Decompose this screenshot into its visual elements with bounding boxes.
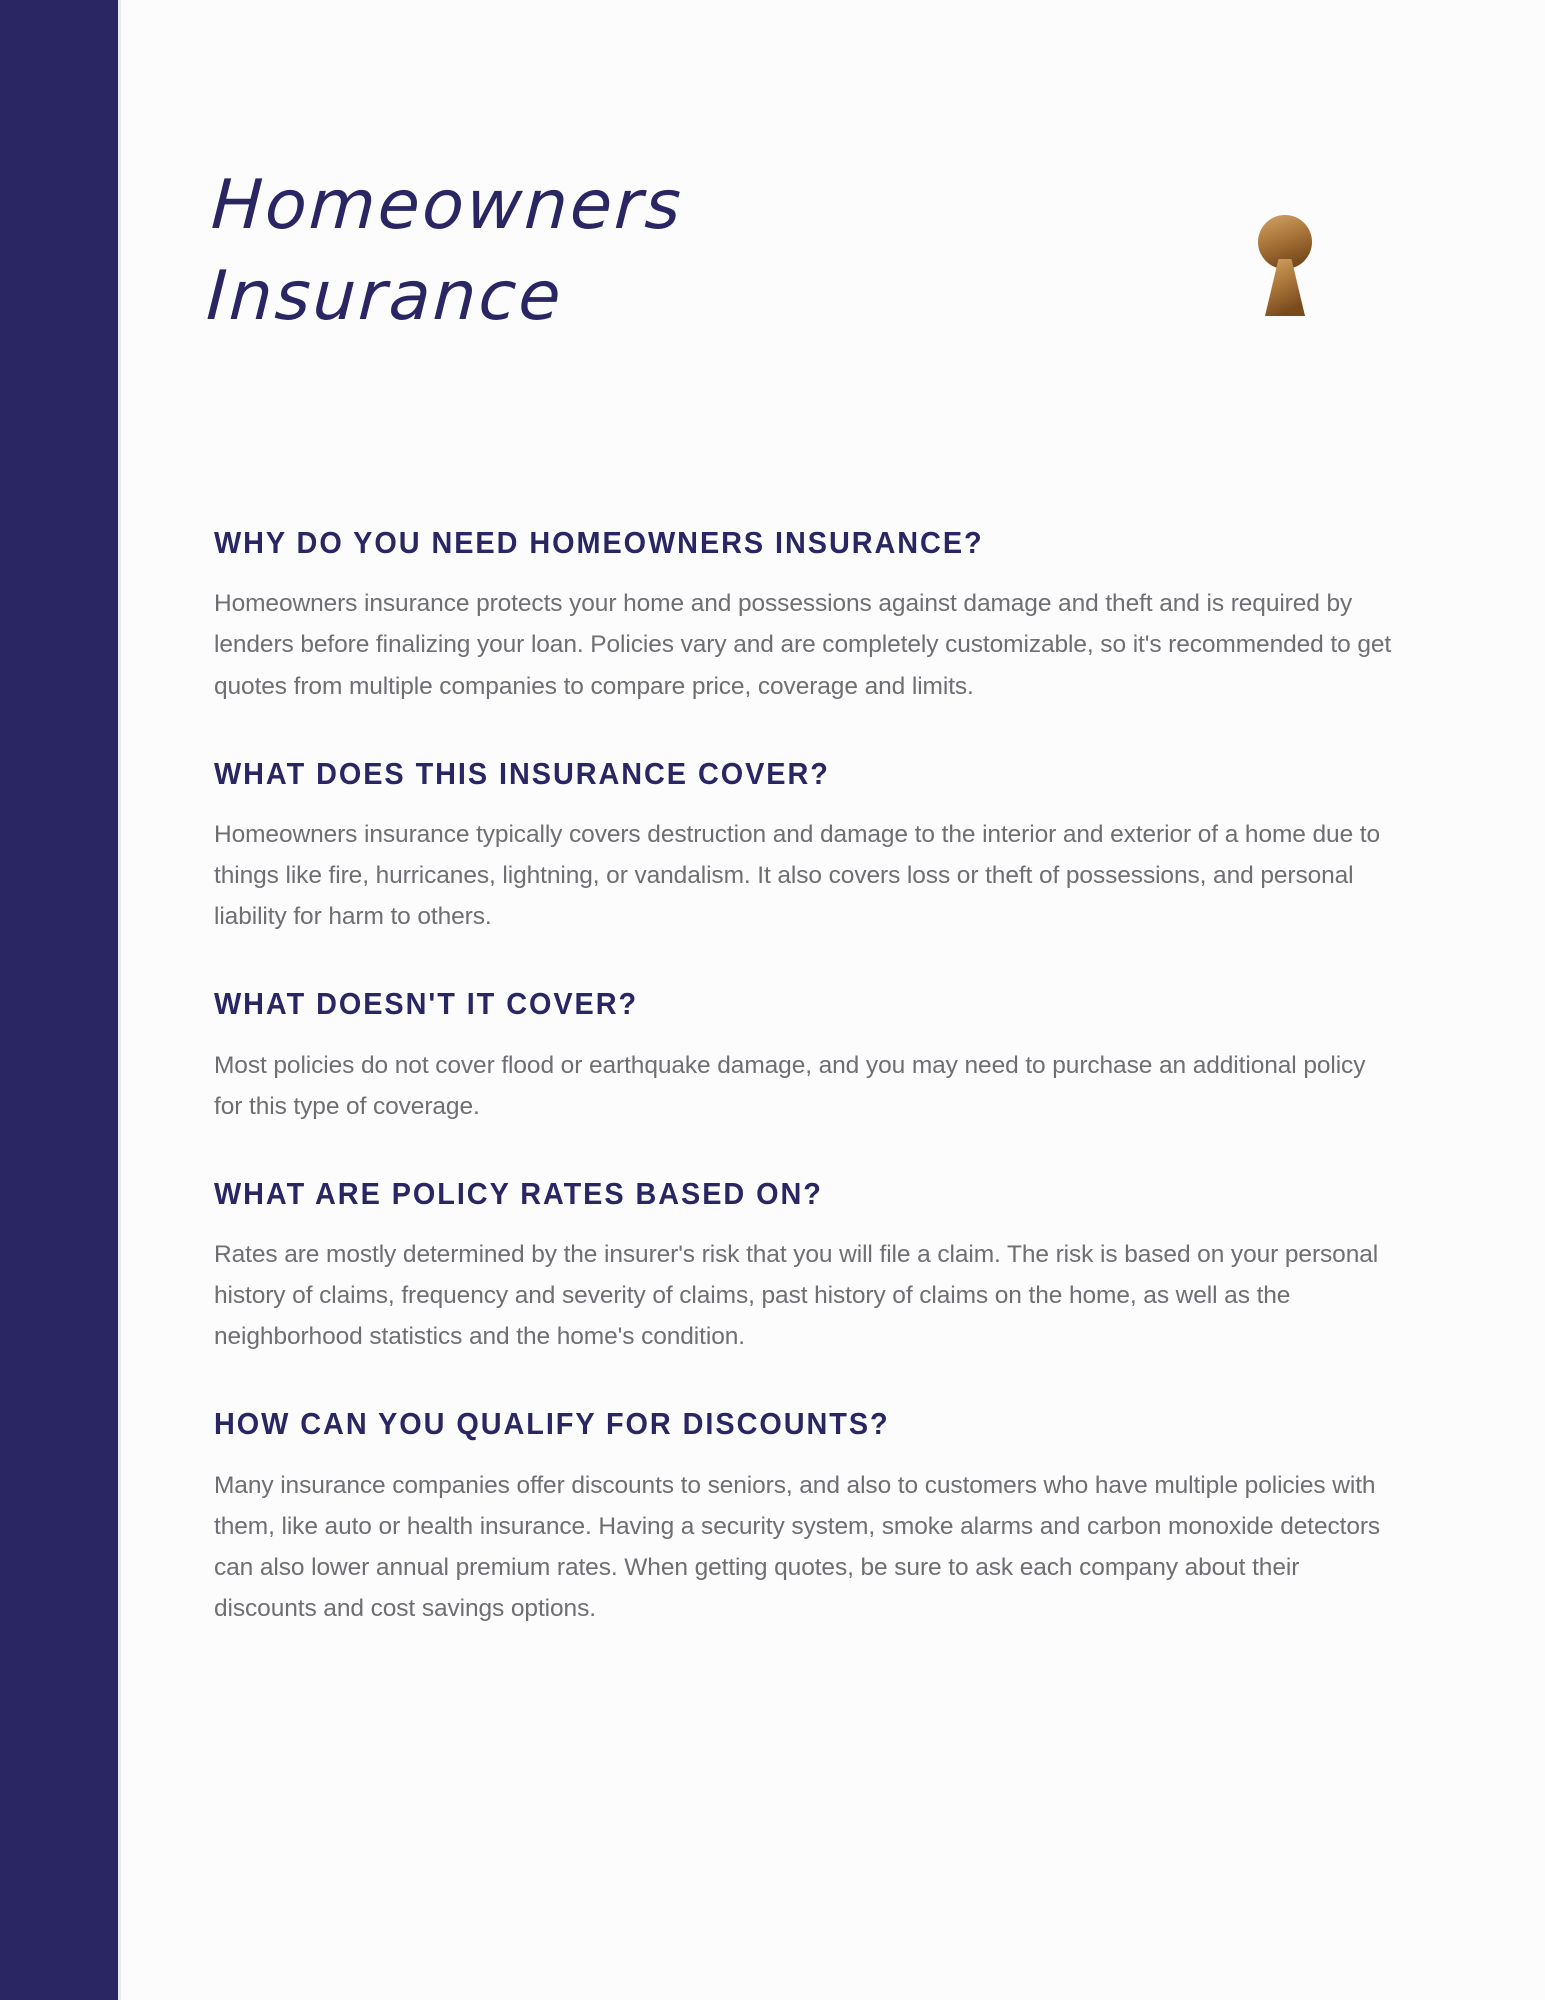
section-body: Many insurance companies offer discounts… [214,1465,1394,1630]
section-body: Rates are mostly determined by the insur… [214,1234,1394,1357]
left-navy-band [0,0,118,2000]
keyhole-icon-svg [1254,212,1316,320]
title-block: Homeowners Insurance [214,160,914,342]
section-heading: WHAT ARE POLICY RATES BASED ON? [214,1175,1311,1212]
page-title: Homeowners Insurance [204,160,914,342]
section-heading: HOW CAN YOU QUALIFY FOR DISCOUNTS? [214,1405,1311,1442]
section-body: Homeowners insurance typically covers de… [214,814,1394,937]
section-what-covers: WHAT DOES THIS INSURANCE COVER? Homeowne… [214,755,1394,938]
document-page: Homeowners Insurance WHY DO YOU NEED HOM… [0,0,1545,2000]
section-body: Homeowners insurance protects your home … [214,583,1394,706]
section-what-not-covers: WHAT DOESN'T IT COVER? Most policies do … [214,985,1394,1127]
section-why-need: WHY DO YOU NEED HOMEOWNERS INSURANCE? Ho… [214,524,1394,707]
section-discounts: HOW CAN YOU QUALIFY FOR DISCOUNTS? Many … [214,1405,1394,1629]
section-heading: WHY DO YOU NEED HOMEOWNERS INSURANCE? [214,524,1311,561]
section-heading: WHAT DOES THIS INSURANCE COVER? [214,755,1311,792]
keyhole-icon [1254,212,1316,320]
sections-list: WHY DO YOU NEED HOMEOWNERS INSURANCE? Ho… [214,524,1394,1629]
section-policy-rates: WHAT ARE POLICY RATES BASED ON? Rates ar… [214,1175,1394,1358]
section-heading: WHAT DOESN'T IT COVER? [214,985,1311,1022]
section-body: Most policies do not cover flood or eart… [214,1045,1394,1127]
document-content: Homeowners Insurance WHY DO YOU NEED HOM… [214,0,1394,2000]
left-band-edge [118,0,121,2000]
